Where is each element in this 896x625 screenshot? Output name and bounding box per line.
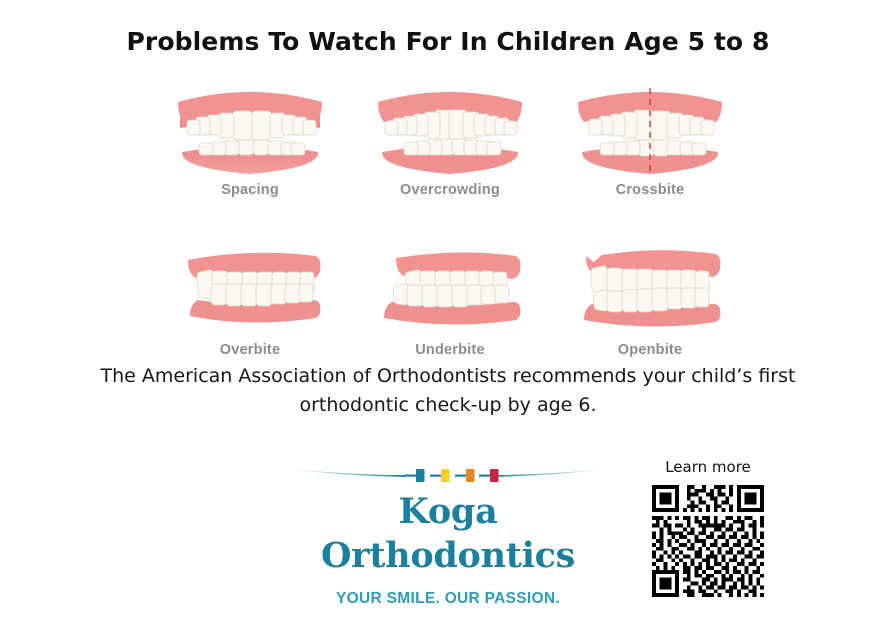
teeth-side-overbite-icon <box>170 242 330 340</box>
brand-logo: Koga Orthodontics YOUR SMILE. OUR PASSIO… <box>283 462 613 608</box>
teeth-front-crossbite-icon <box>570 82 730 180</box>
condition-cell-openbite: Openbite <box>560 242 740 358</box>
condition-cell-overbite: Overbite <box>160 242 340 358</box>
teeth-side-openbite-icon <box>570 242 730 340</box>
page-title: Problems To Watch For In Children Age 5 … <box>0 27 896 56</box>
qr-code-icon[interactable] <box>652 485 764 597</box>
braces-archwire-icon <box>283 462 613 488</box>
conditions-grid: Spacing <box>160 82 740 358</box>
condition-cell-overcrowding: Overcrowding <box>360 82 540 198</box>
condition-cell-underbite: Underbite <box>360 242 540 358</box>
qr-section: Learn more <box>648 458 768 597</box>
teeth-side-underbite-icon <box>370 242 530 340</box>
condition-label-underbite: Underbite <box>415 342 484 358</box>
infographic-page: Problems To Watch For In Children Age 5 … <box>0 0 896 625</box>
conditions-row-2: Overbite <box>160 242 740 358</box>
learn-more-label: Learn more <box>648 458 768 476</box>
condition-label-spacing: Spacing <box>221 182 279 198</box>
teeth-front-overcrowding-icon <box>370 82 530 180</box>
recommendation-text: The American Association of Orthodontist… <box>98 362 798 420</box>
condition-cell-spacing: Spacing <box>160 82 340 198</box>
condition-label-crossbite: Crossbite <box>616 182 685 198</box>
teeth-front-spacing-icon <box>170 82 330 180</box>
brand-name: Koga Orthodontics <box>283 490 613 578</box>
condition-label-overbite: Overbite <box>220 342 280 358</box>
condition-cell-crossbite: Crossbite <box>560 82 740 198</box>
brand-tagline: YOUR SMILE. OUR PASSION. <box>283 590 613 608</box>
conditions-row-1: Spacing <box>160 82 740 198</box>
condition-label-openbite: Openbite <box>618 342 682 358</box>
condition-label-overcrowding: Overcrowding <box>400 182 500 198</box>
